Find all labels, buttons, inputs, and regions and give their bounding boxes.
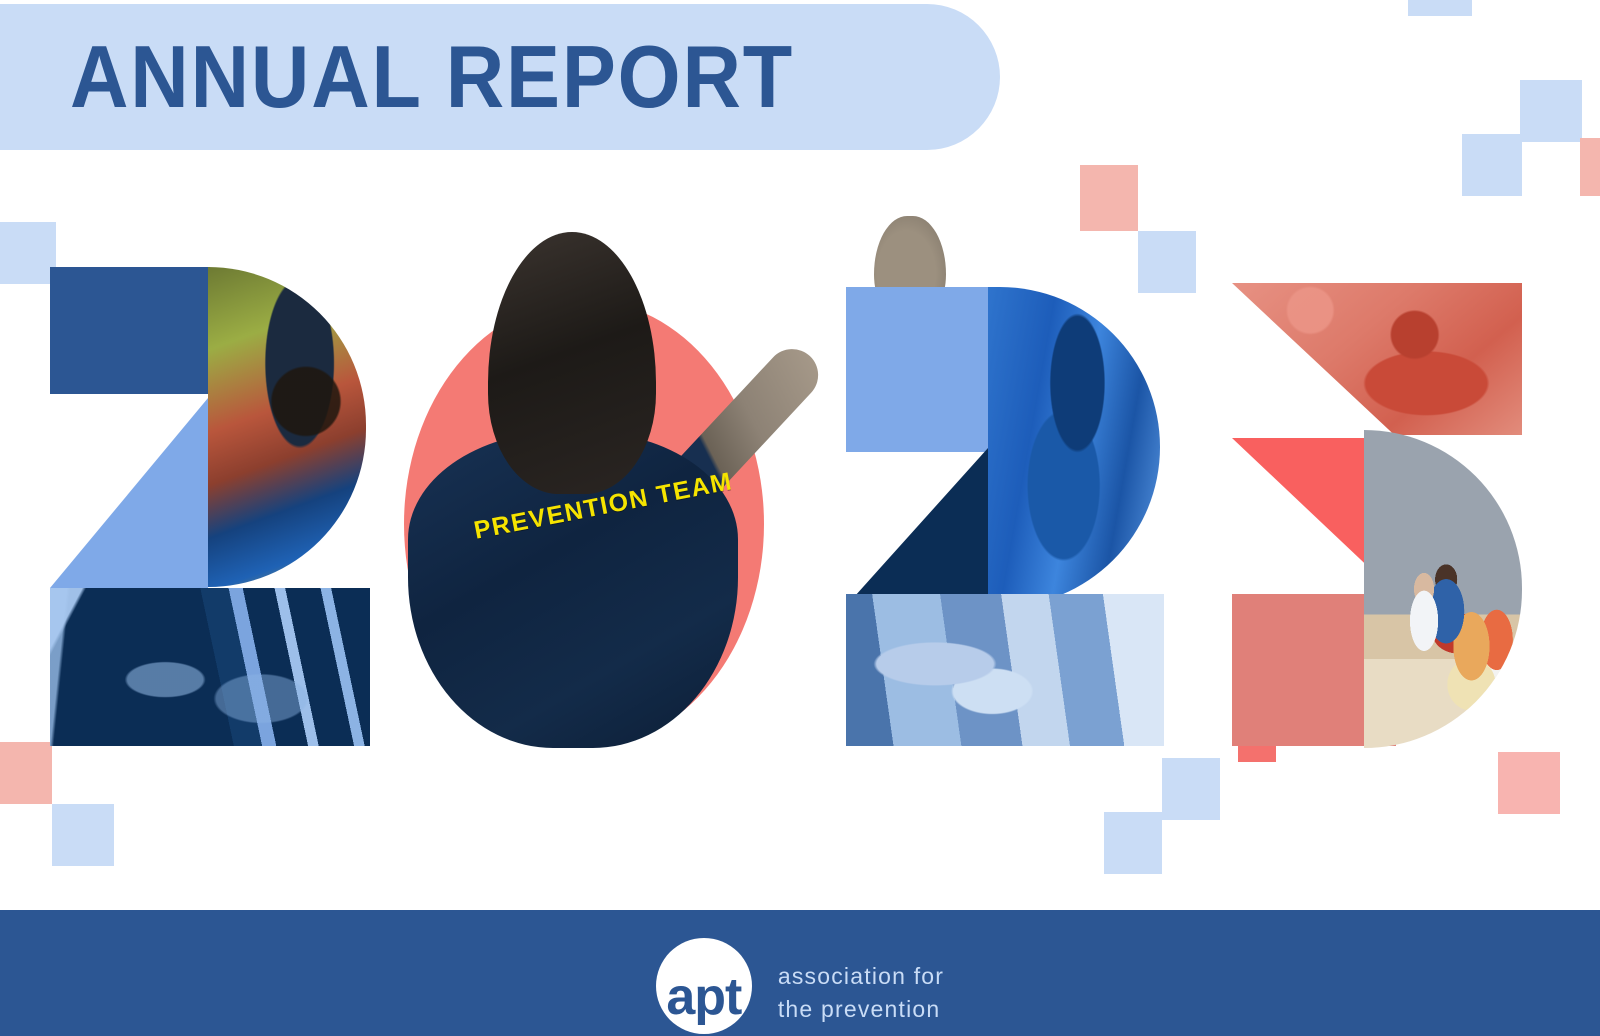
photo-community-meeting — [1364, 430, 1522, 748]
person-hair — [488, 232, 656, 494]
digit-2b-top-bar — [846, 287, 988, 452]
footer-bar: apt association for the prevention — [0, 910, 1600, 1036]
apt-logo-wordmark: apt — [666, 971, 741, 1023]
apt-tagline-line-2: the prevention — [778, 993, 944, 1026]
year-2023-collage: PREVENTION TEAM — [0, 0, 1600, 910]
photo-hands-writing-grey — [846, 594, 1164, 746]
apt-tagline-line-1: association for — [778, 960, 944, 993]
photo-hands-navy — [50, 588, 370, 746]
photo-woman-notes-blue — [988, 287, 1160, 607]
photo-police-officer — [208, 267, 366, 587]
annual-report-cover: ANNUAL REPORT — [0, 0, 1600, 1036]
digit-2-diagonal — [50, 398, 208, 588]
digit-2-top-bar — [50, 267, 210, 394]
apt-logo: apt association for the prevention — [656, 938, 944, 1034]
apt-tagline: association for the prevention — [778, 960, 944, 1025]
apt-logo-mark: apt — [656, 938, 752, 1034]
digit-2b-diagonal — [846, 448, 988, 606]
photo-woman-speaking-coral — [1232, 283, 1522, 435]
photo-prevention-team-member: PREVENTION TEAM — [380, 200, 800, 760]
